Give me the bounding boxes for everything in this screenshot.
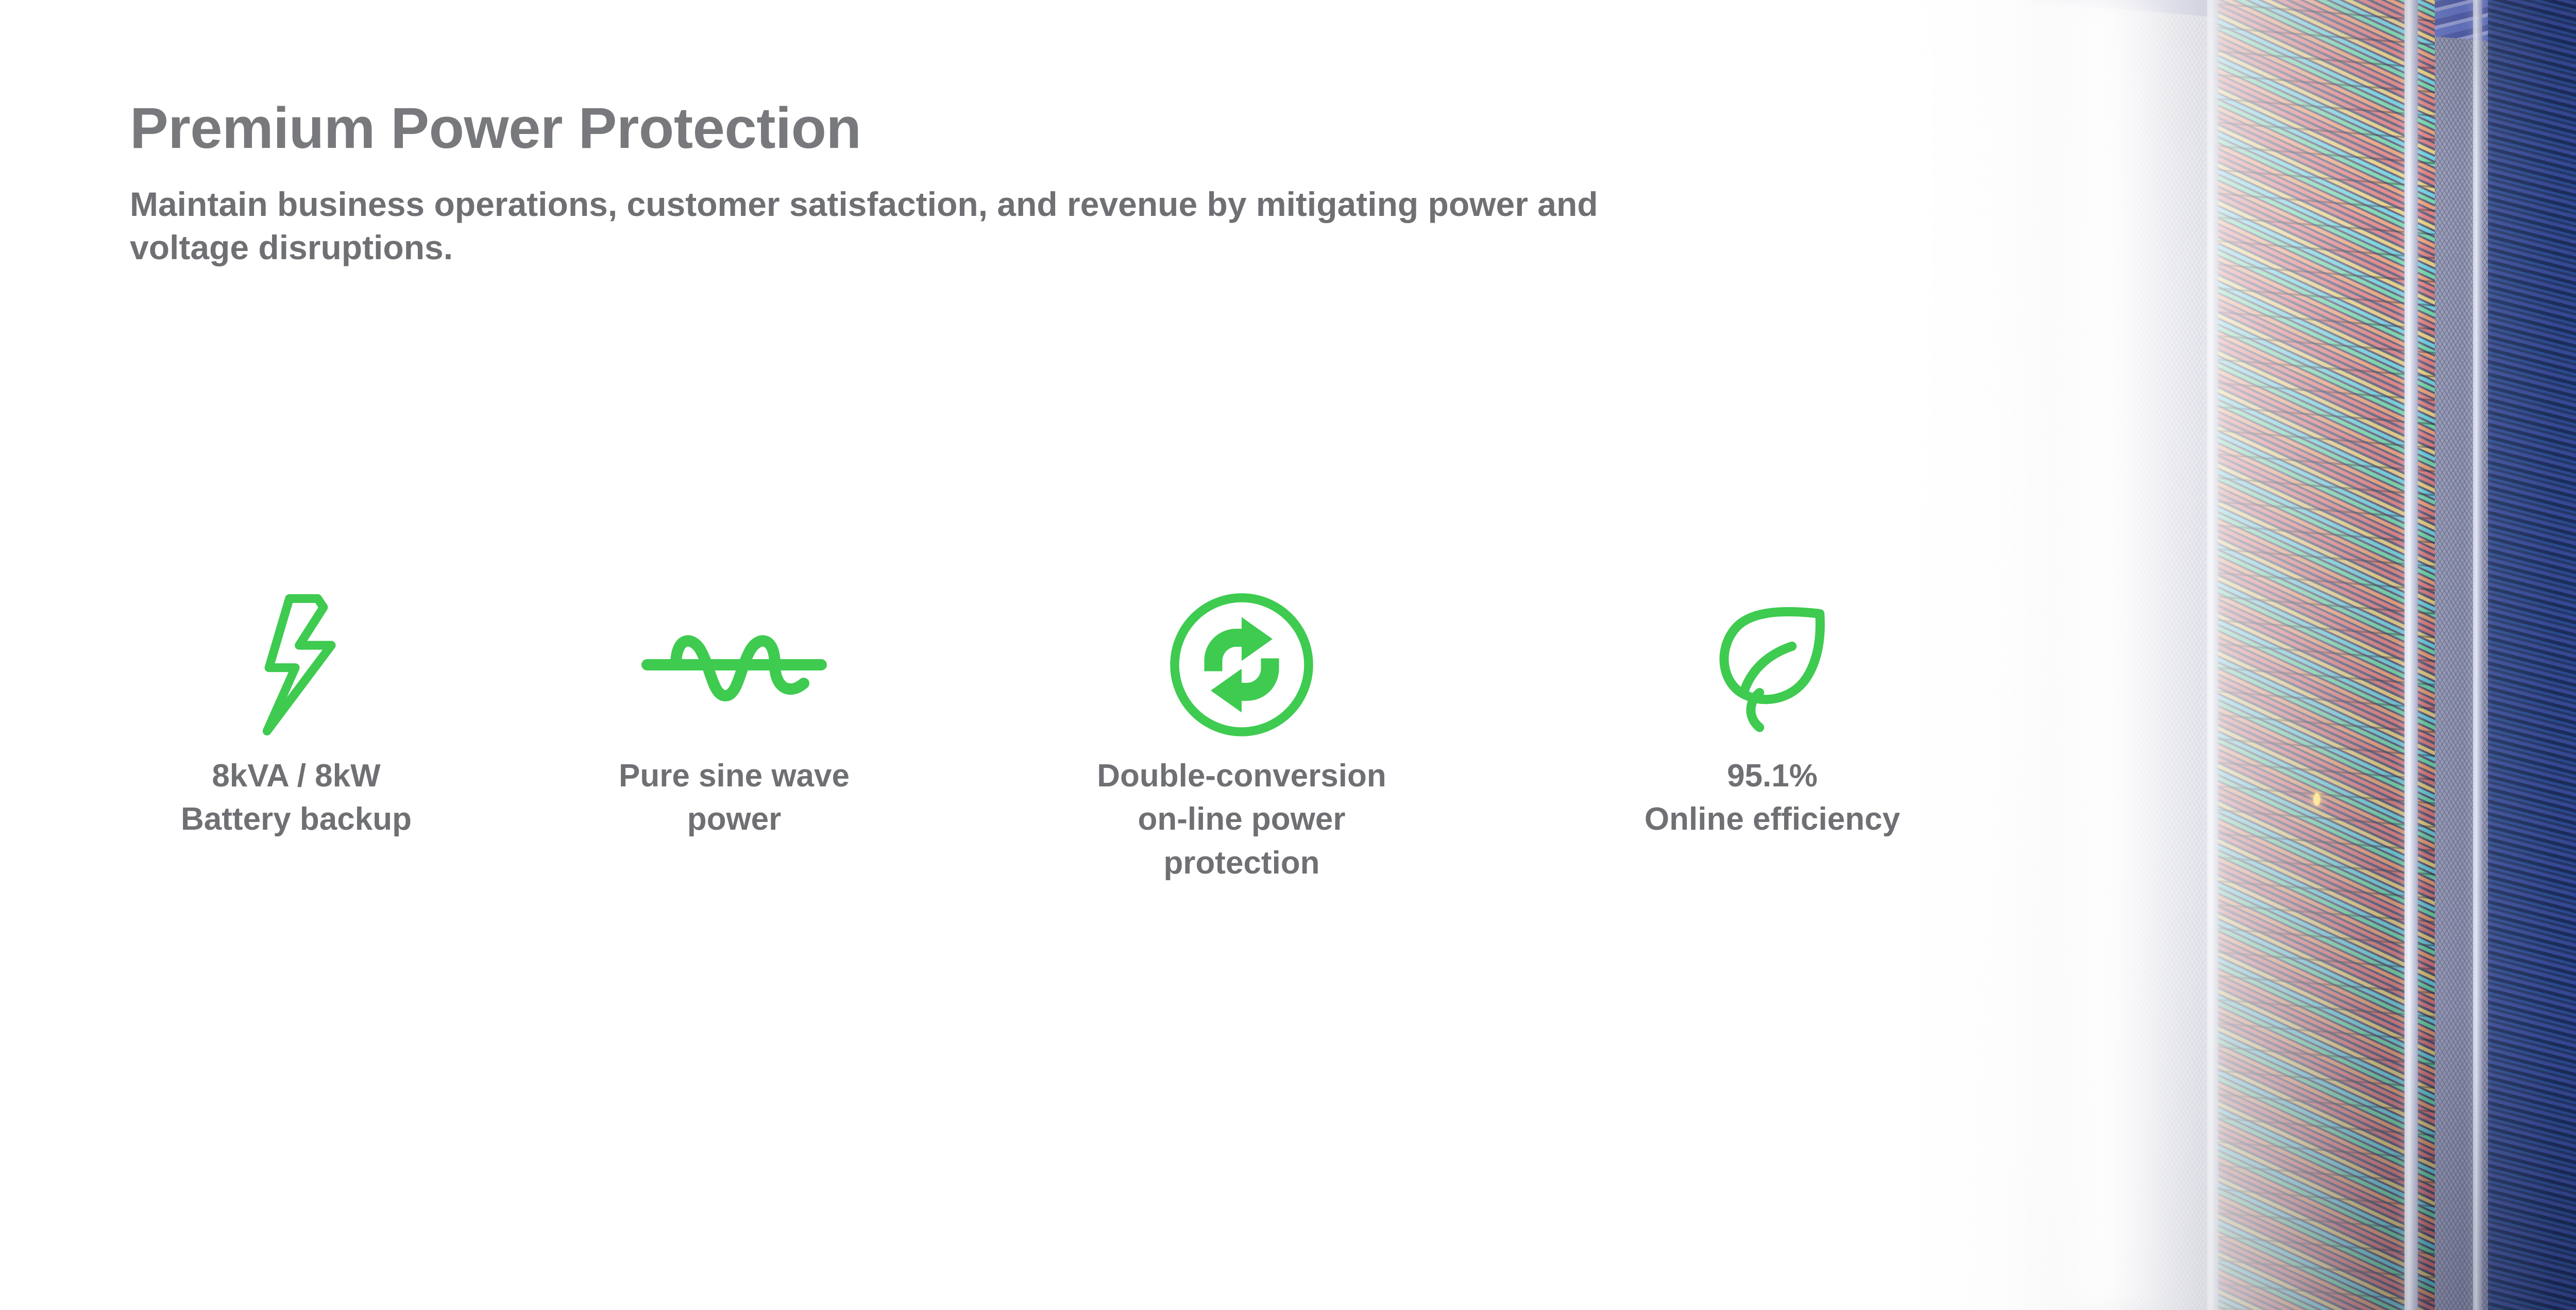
- hero-banner: Premium Power Protection Maintain busine…: [0, 0, 2576, 1310]
- sine-wave-icon: [639, 587, 829, 742]
- feature-item-efficiency: 95.1% Online efficiency: [1515, 587, 2030, 842]
- double-conversion-refresh-icon: [1164, 587, 1319, 742]
- feature-item-double-conversion: Double-conversion on-line power protecti…: [969, 587, 1515, 885]
- feature-label: Double-conversion on-line power protecti…: [1097, 754, 1386, 885]
- feature-label: 8kVA / 8kW Battery backup: [181, 754, 412, 842]
- feature-list: 8kVA / 8kW Battery backup Pure sine wave…: [93, 587, 2092, 885]
- page-title: Premium Power Protection: [130, 98, 1804, 159]
- feature-label: Pure sine wave power: [619, 754, 850, 842]
- leaf-icon: [1708, 587, 1837, 742]
- feature-item-battery-backup: 8kVA / 8kW Battery backup: [93, 587, 500, 842]
- page-subtitle: Maintain business operations, customer s…: [130, 182, 1701, 270]
- hero-text-block: Premium Power Protection Maintain busine…: [130, 98, 1804, 270]
- lightning-bolt-icon: [247, 587, 345, 742]
- feature-item-sine-wave: Pure sine wave power: [500, 587, 969, 842]
- feature-label: 95.1% Online efficiency: [1645, 754, 1900, 842]
